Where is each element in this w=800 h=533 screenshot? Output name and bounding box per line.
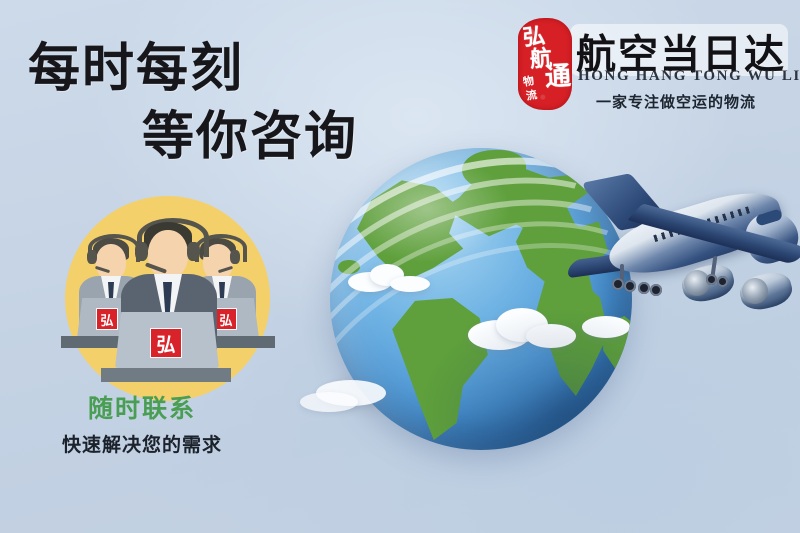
- plane-engine-fan: [742, 278, 768, 304]
- cloud-foreground: [300, 392, 358, 412]
- landing-gear-wheel: [612, 278, 624, 290]
- landmass-north-america: [350, 176, 468, 286]
- landing-gear-wheel: [624, 280, 636, 292]
- seal-char-hang: 航: [529, 47, 552, 70]
- cloud: [390, 276, 430, 292]
- headline-line-1: 每时每刻: [28, 26, 244, 101]
- earcup-icon: [135, 242, 148, 261]
- earcup-icon: [187, 242, 200, 261]
- laptop-badge-center: 弘: [150, 328, 182, 358]
- caption-primary: 随时联系: [88, 389, 196, 425]
- plane-engine-fan: [684, 270, 710, 296]
- laptop-badge-left: 弘: [96, 308, 118, 330]
- landing-gear-wheel: [717, 276, 728, 287]
- landmass-island: [338, 260, 360, 274]
- seal-char-tong: 通: [544, 63, 571, 90]
- seal-char-liu: 流: [525, 89, 538, 102]
- company-seal-stamp: 弘 航 通 物 流: [518, 18, 572, 110]
- badge-char: 弘: [156, 330, 175, 357]
- brand-pinyin: HONG HANG TONG WU LIU: [578, 68, 800, 85]
- brand-logo: 弘 航 通 物 流 航空当日达 HONG HANG TONG WU LIU 一家…: [518, 16, 790, 126]
- earcup-icon: [230, 250, 240, 264]
- banner-canvas: 每时每刻 等你咨询 弘 航 通 物 流 航空当日达 HONG HANG TONG…: [0, 0, 800, 533]
- seal-char-hong: 弘: [522, 25, 547, 50]
- landing-gear-wheel: [650, 284, 662, 296]
- landing-gear-wheel: [638, 282, 650, 294]
- badge-char: 弘: [100, 310, 113, 329]
- landing-gear-wheel: [706, 274, 717, 285]
- landmass-south-america: [388, 298, 492, 440]
- call-center-illustration: 弘 弘 弘: [65, 196, 270, 401]
- badge-char: 弘: [219, 310, 232, 329]
- desk-front: [101, 368, 231, 382]
- landmass-greenland: [462, 150, 526, 190]
- seal-char-wu: 物: [522, 75, 535, 88]
- head: [148, 230, 188, 278]
- brand-slogan: 一家专注做空运的物流: [596, 91, 756, 112]
- caption-secondary: 快速解决您的需求: [62, 430, 222, 457]
- airplane-illustration: [560, 160, 800, 350]
- earcup-icon: [87, 250, 97, 264]
